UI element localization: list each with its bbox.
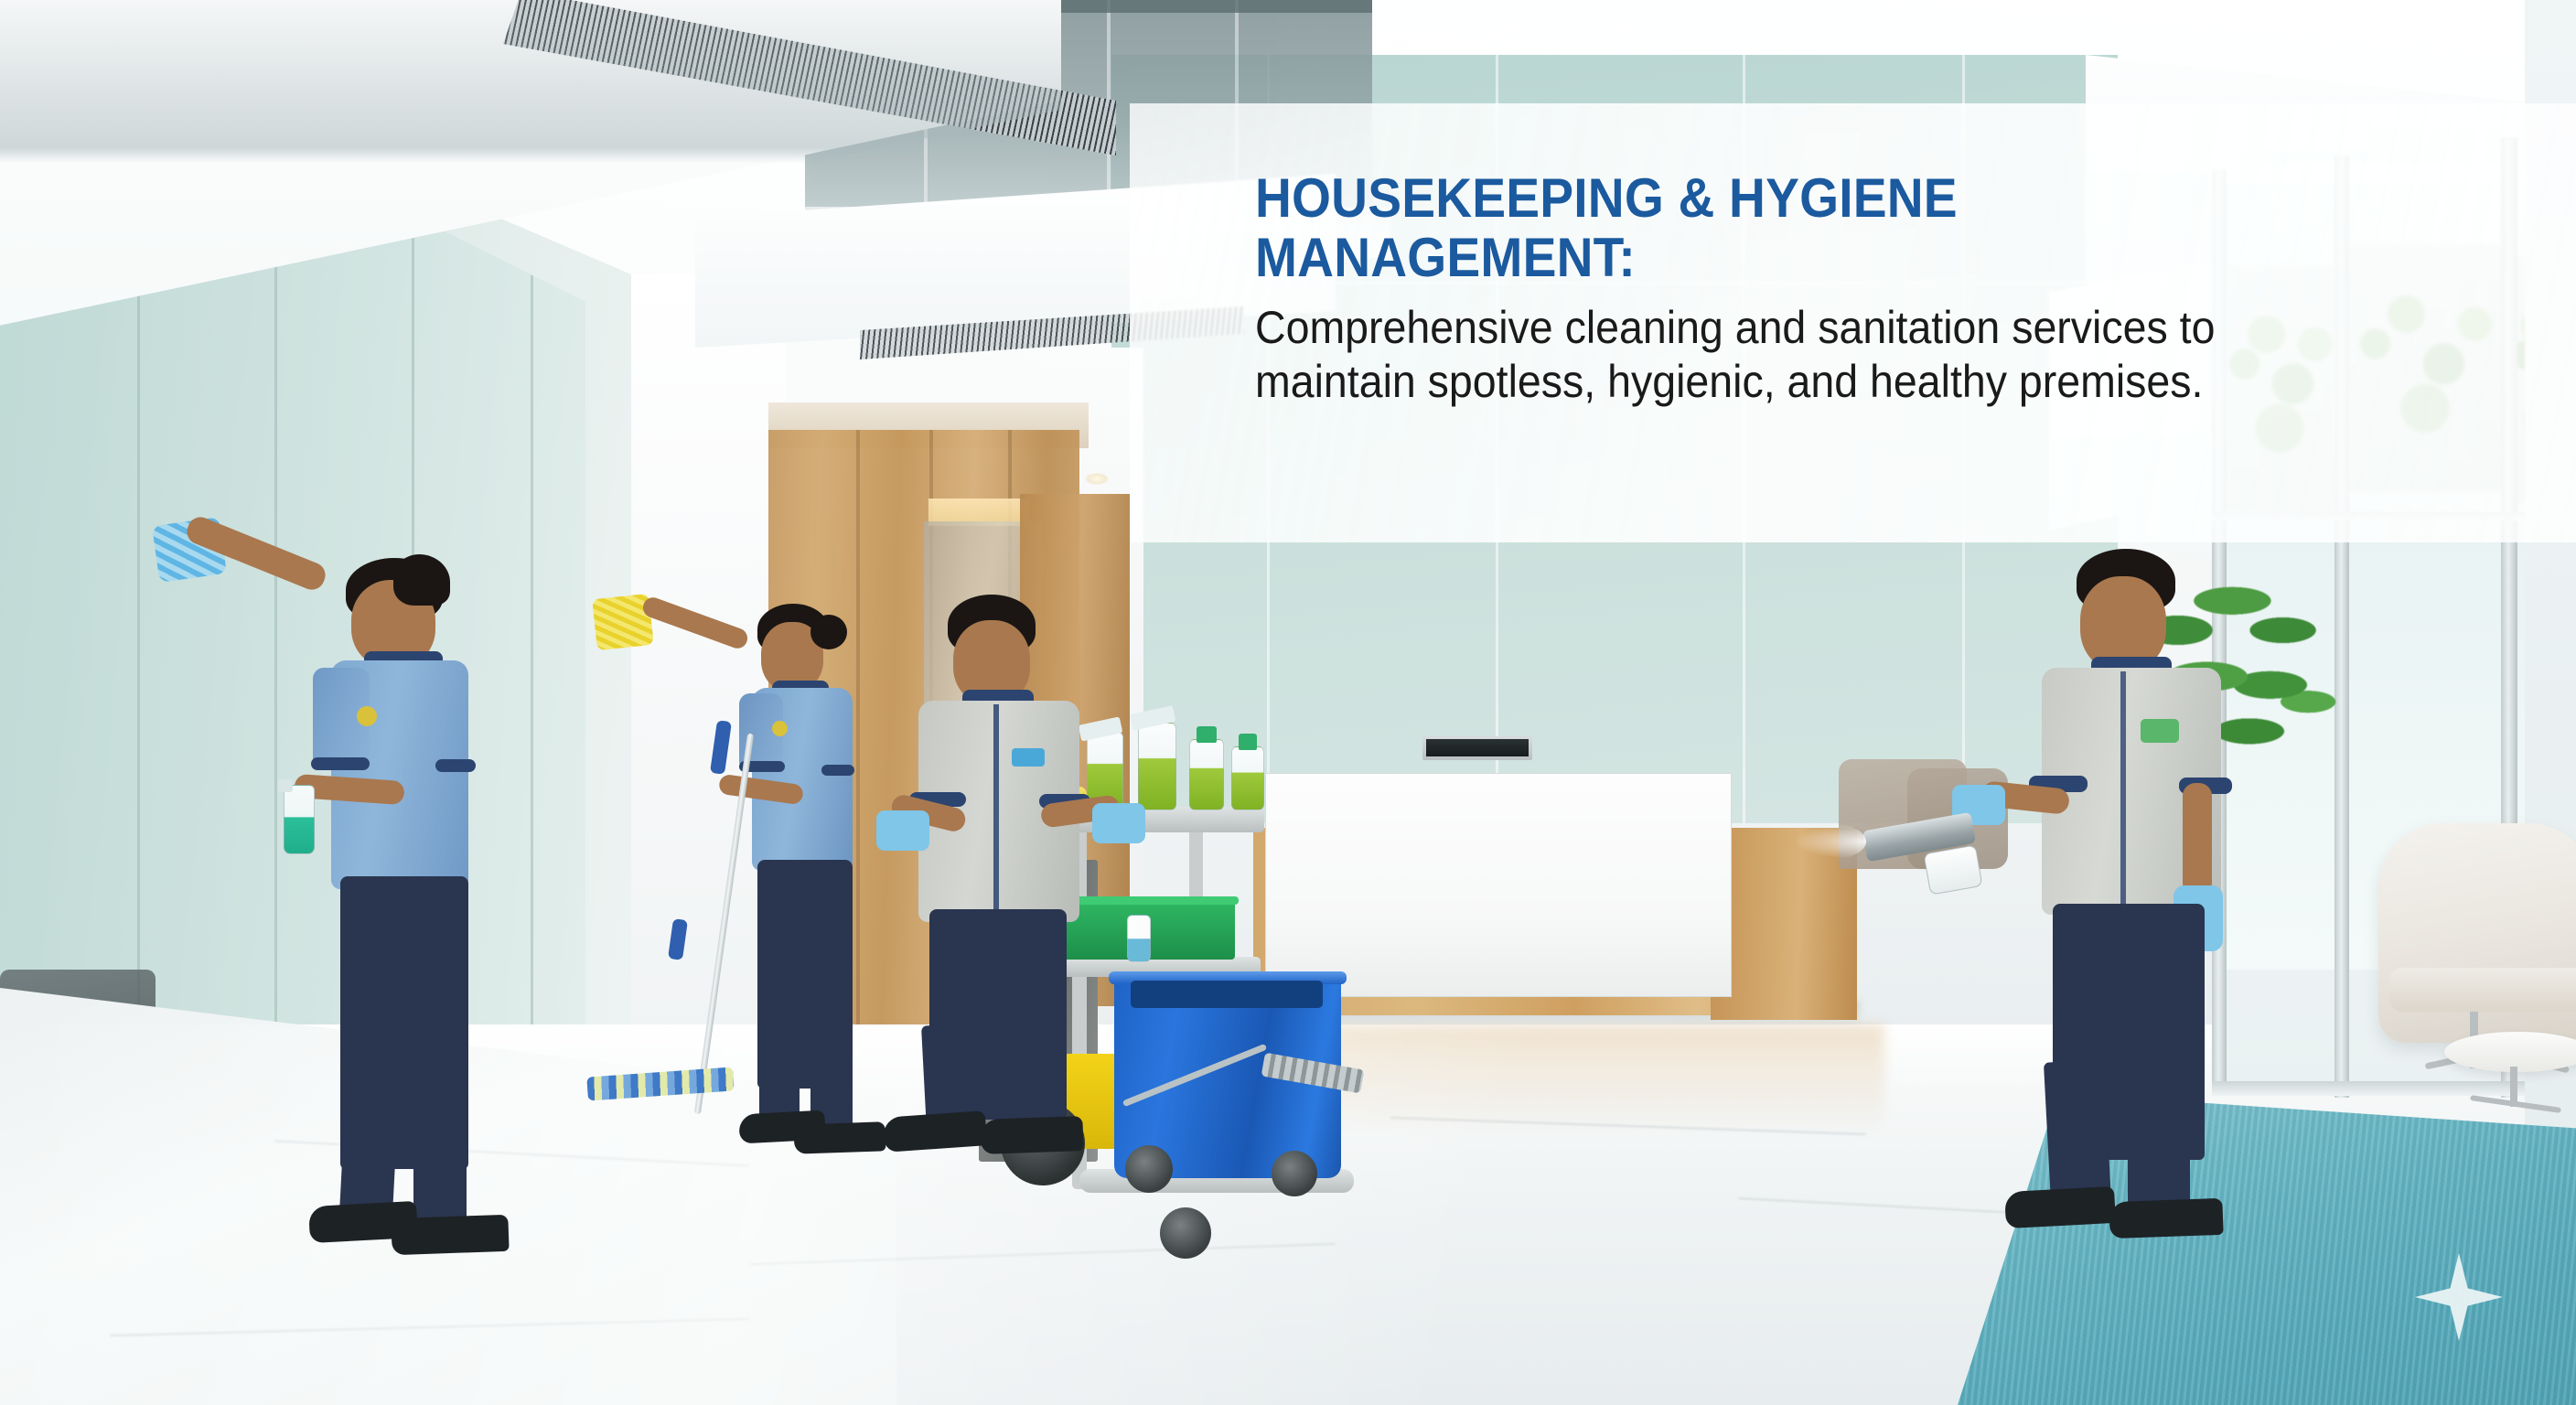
- sanitiser-bottle-2: [1231, 746, 1264, 810]
- spray-trigger: [278, 779, 293, 792]
- mop-bucket-interior: [1131, 981, 1323, 1008]
- glove-right: [1092, 803, 1145, 843]
- worker-shoe: [2004, 1186, 2116, 1228]
- uniform-logo: [2141, 719, 2179, 743]
- cart-caster: [1125, 1145, 1173, 1193]
- worker-shoe: [793, 1121, 885, 1153]
- worker-arm-right: [2183, 783, 2212, 896]
- downlight-icon: [1085, 473, 1109, 485]
- uniform-logo: [772, 721, 788, 736]
- worker-shoe: [883, 1110, 987, 1153]
- worker-hair-top: [393, 554, 450, 606]
- sanitiser-bottle-1: [1189, 739, 1224, 810]
- worker-sleeve-cuff: [435, 759, 476, 772]
- worker-wall-wiper: [256, 549, 531, 1299]
- worker-shoe: [980, 1116, 1083, 1154]
- worker-leg-front: [2128, 1063, 2190, 1207]
- worker-shoe: [2109, 1198, 2223, 1239]
- glove-left: [876, 810, 929, 851]
- uniform-logo: [1012, 748, 1045, 767]
- overlay-text-block: HOUSEKEEPING & HYGIENE MANAGEMENT: Compr…: [1255, 169, 2545, 409]
- worker-leg-front: [413, 1094, 467, 1231]
- worker-leg-back: [2044, 1059, 2111, 1205]
- uniform-placket: [2120, 671, 2126, 913]
- bottle-cap-1: [1197, 726, 1217, 743]
- overlay-title-line-2: MANAGEMENT:: [1255, 229, 2442, 288]
- worker-hair-bun: [810, 615, 847, 649]
- lounge-chair-seat: [2389, 968, 2576, 1012]
- reception-monitor-screen: [1426, 739, 1529, 756]
- worker-cart-pusher: [896, 595, 1153, 1143]
- worker-sleeve-cuff: [821, 765, 854, 776]
- worker-shoe: [391, 1215, 509, 1255]
- uniform-logo: [357, 706, 377, 726]
- cart-caster: [1272, 1151, 1317, 1196]
- spray-bottle: [284, 785, 315, 854]
- worker-sleeve-cuff: [311, 757, 370, 770]
- uniform-placket: [993, 704, 999, 922]
- reception-desk-front-panel: [1265, 773, 1732, 997]
- cart-caster-front: [1160, 1207, 1211, 1259]
- worker-sanitiser: [2022, 549, 2296, 1262]
- overlay-body-text: Comprehensive cleaning and sanitation se…: [1255, 301, 2454, 409]
- lobby-scene-image: HOUSEKEEPING & HYGIENE MANAGEMENT: Compr…: [0, 0, 2576, 1405]
- spray-mist: [1793, 823, 1866, 860]
- overlay-title-line-1: HOUSEKEEPING & HYGIENE: [1255, 169, 2442, 229]
- bottle-cap-2: [1239, 734, 1257, 750]
